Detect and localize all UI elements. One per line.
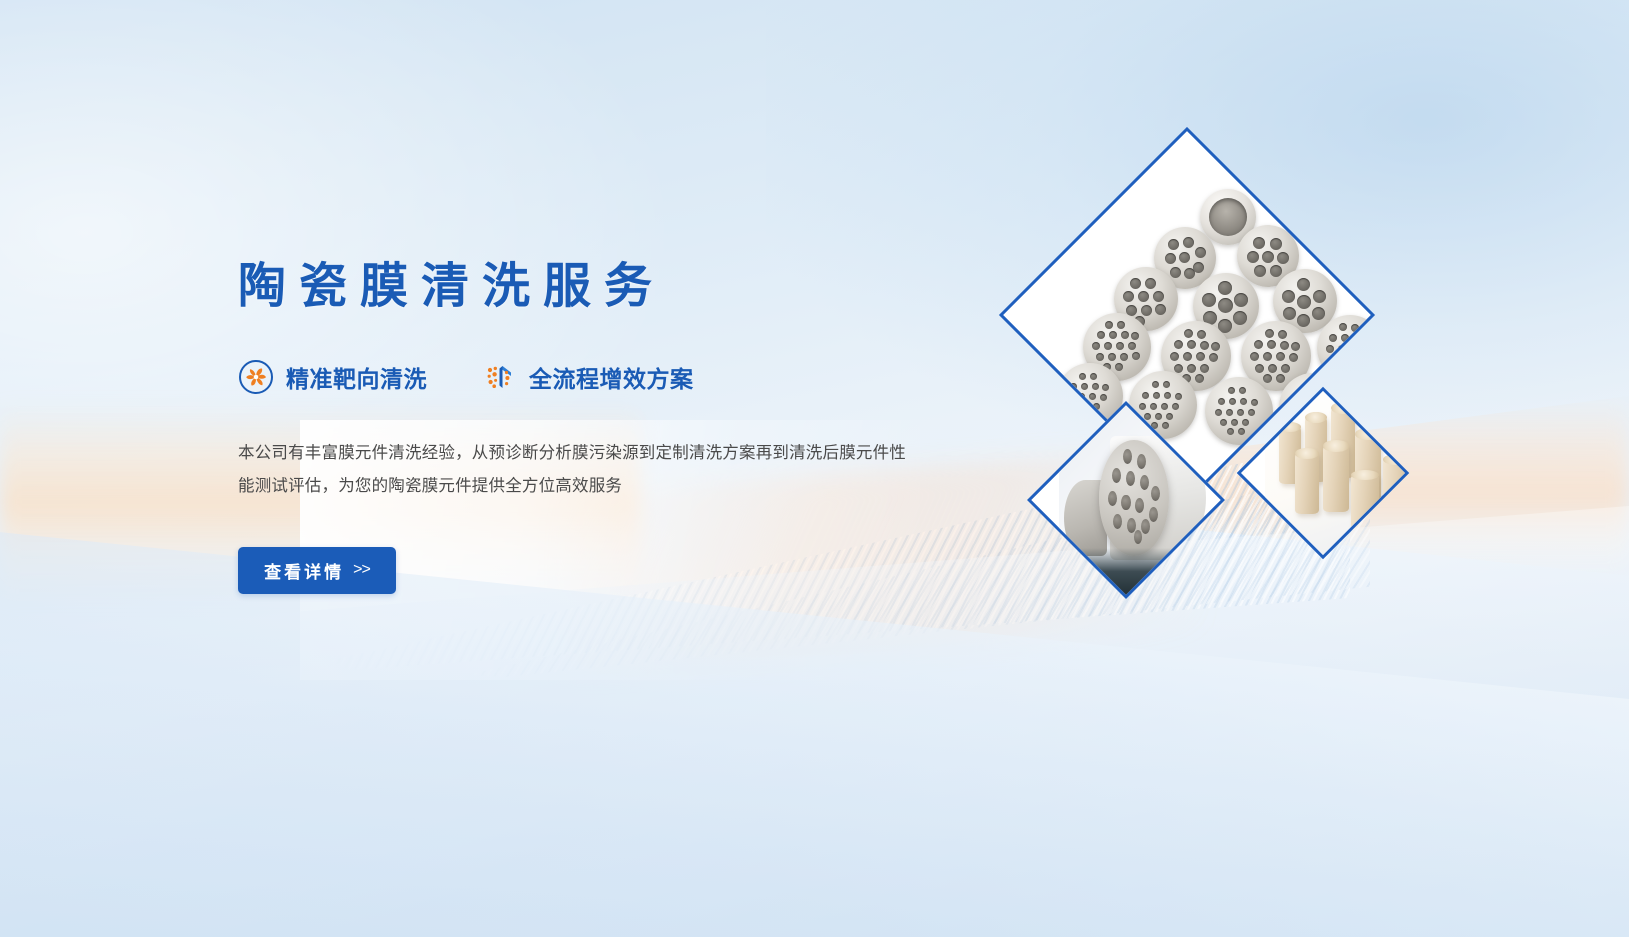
hero-banner: 陶瓷膜清洗服务 (0, 0, 1629, 937)
feature-label: 全流程增效方案 (529, 360, 694, 394)
flow-process-icon (481, 359, 517, 395)
feature-list: 精准靶向清洗 (238, 359, 938, 395)
feature-label: 精准靶向清洗 (286, 360, 427, 394)
feature-item-full-process: 全流程增效方案 (481, 359, 694, 395)
rods-illustration (1265, 388, 1381, 558)
diamond-image-group (1010, 150, 1450, 650)
hero-description: 本公司有丰富膜元件清洗经验，从预诊断分析膜污染源到定制清洗方案再到清洗后膜元件性… (238, 437, 906, 503)
view-details-label: 查看详情 (264, 558, 344, 583)
page-title: 陶瓷膜清洗服务 (238, 258, 938, 317)
double-chevron-right-icon: >> (353, 561, 370, 579)
view-details-button[interactable]: 查看详情 >> (238, 547, 396, 594)
feature-item-precision-cleaning: 精准靶向清洗 (238, 359, 427, 395)
pinwheel-circle-icon (238, 359, 274, 395)
hero-content: 陶瓷膜清洗服务 (238, 258, 938, 594)
